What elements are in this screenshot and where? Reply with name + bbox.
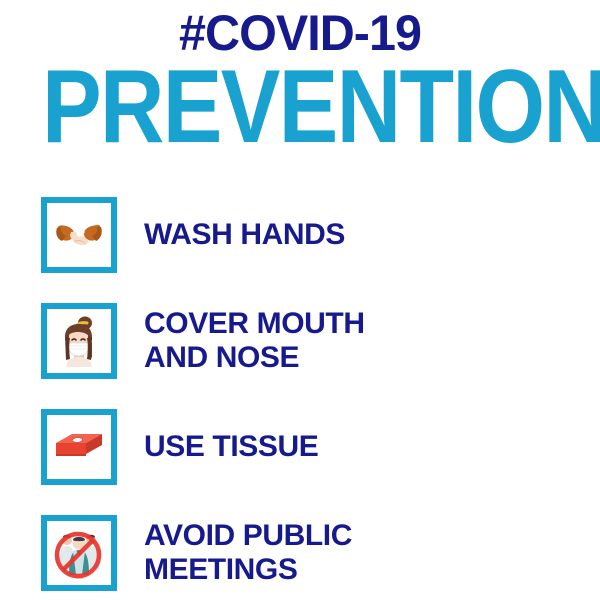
list-item-label: USE TISSUE: [144, 430, 318, 464]
prevention-tips-list: WASH HANDS: [0, 196, 600, 592]
list-item: COVER MOUTH AND NOSE: [0, 302, 600, 380]
icon-frame: [41, 409, 117, 485]
washing-hands-icon: [52, 215, 106, 255]
icon-frame: [41, 303, 117, 379]
list-item: USE TISSUE: [0, 408, 600, 486]
list-item-label: COVER MOUTH AND NOSE: [144, 307, 365, 375]
poster-heading: #COVID-19 PREVENTION: [0, 0, 600, 156]
list-item-label: WASH HANDS: [144, 218, 345, 252]
list-item-label: AVOID PUBLIC MEETINGS: [144, 519, 352, 587]
page-title-prevention: PREVENTION: [42, 60, 558, 156]
woman-wearing-face-mask-icon: [56, 315, 102, 367]
icon-frame: [41, 515, 117, 591]
covid-prevention-poster: #COVID-19 PREVENTION: [0, 0, 600, 600]
list-item: WASH HANDS: [0, 196, 600, 274]
icon-frame: [41, 197, 117, 273]
no-public-gathering-icon: [51, 525, 107, 581]
tissue-box-icon: [52, 430, 106, 464]
list-item: AVOID PUBLIC MEETINGS: [0, 514, 600, 592]
